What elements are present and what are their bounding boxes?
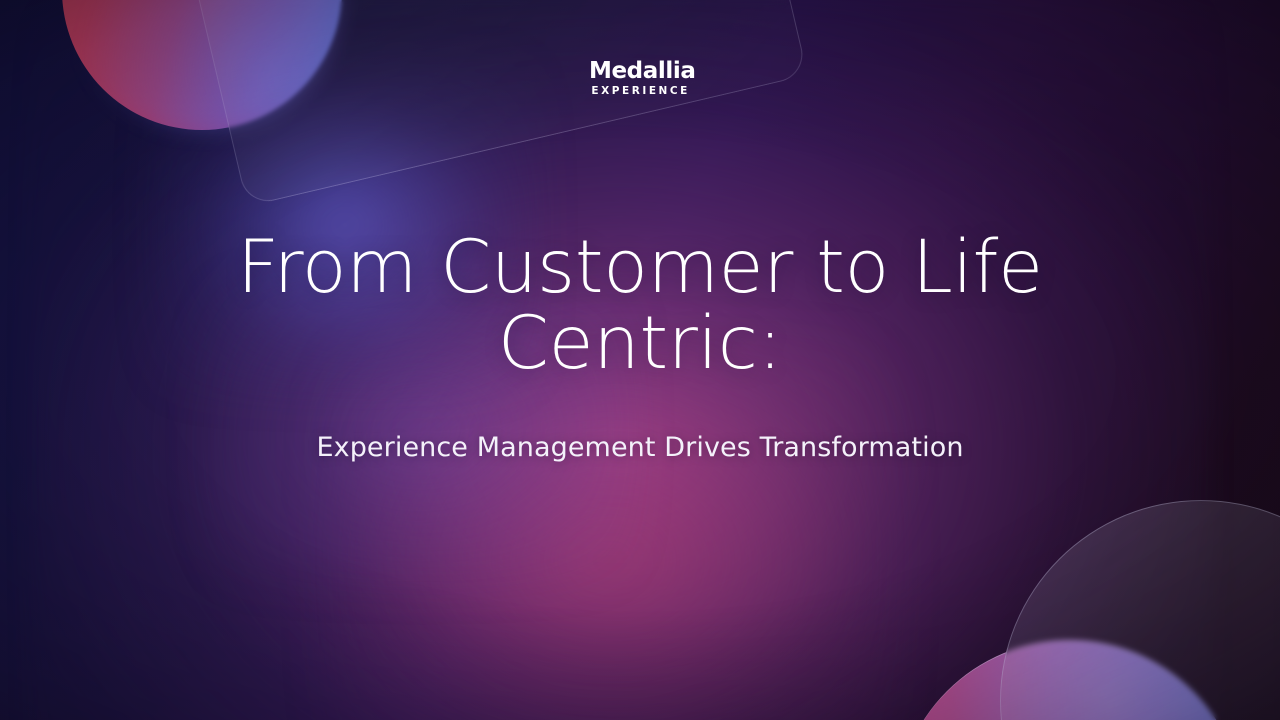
title-line-2: Centric: (0, 306, 1280, 382)
page-subtitle: Experience Management Drives Transformat… (0, 432, 1280, 463)
title-slide: Medallia EXPERIENCE From Customer to Lif… (0, 0, 1280, 720)
medallia-logo: Medallia EXPERIENCE (589, 60, 689, 97)
logo-brand-text: Medallia (589, 60, 689, 83)
logo-product-text: EXPERIENCE (589, 86, 689, 97)
title-line-1: From Customer to Life (0, 230, 1280, 306)
page-title: From Customer to Life Centric: (0, 230, 1280, 382)
